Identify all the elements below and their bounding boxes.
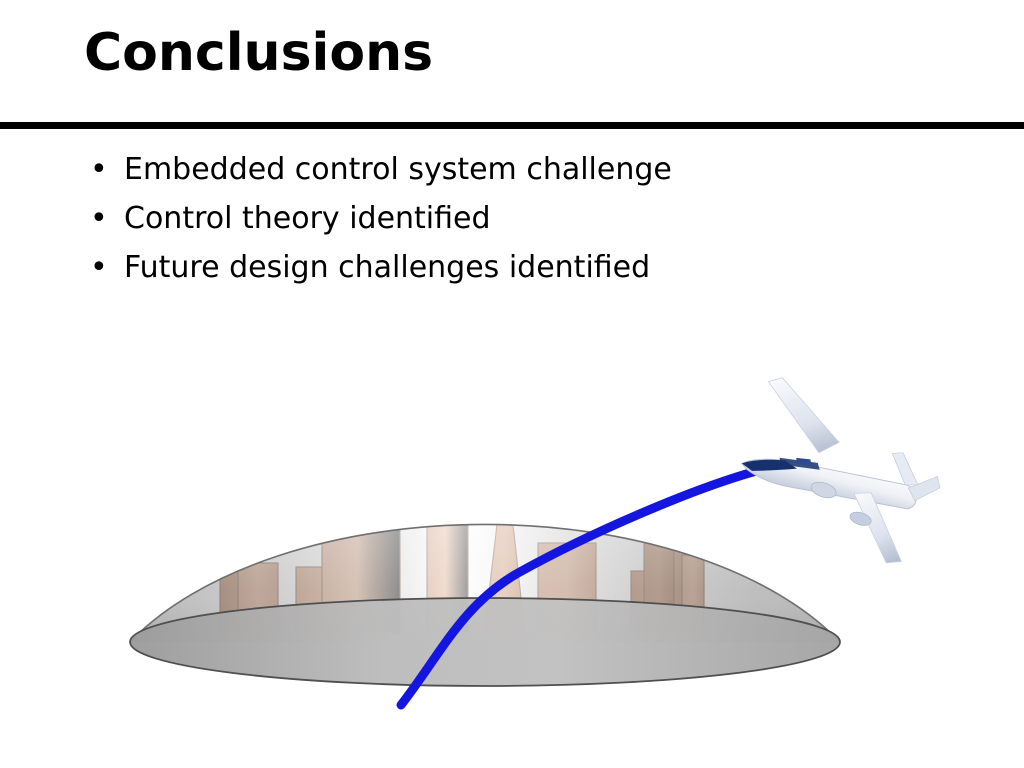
bullet-marker-icon: • bbox=[84, 250, 124, 286]
airplane-wing-far bbox=[752, 374, 852, 458]
bullet-list: • Embedded control system challenge • Co… bbox=[84, 152, 884, 299]
airplane bbox=[726, 374, 957, 572]
list-item: • Control theory identified bbox=[84, 201, 884, 237]
list-item-label: Control theory identified bbox=[124, 201, 491, 237]
list-item-label: Future design challenges identified bbox=[124, 250, 650, 286]
airplane-fuselage bbox=[739, 435, 920, 527]
bullet-marker-icon: • bbox=[84, 201, 124, 237]
city-under-dome-illustration bbox=[110, 355, 970, 725]
list-item: • Future design challenges identified bbox=[84, 250, 884, 286]
page-title: Conclusions bbox=[84, 26, 433, 81]
bullet-marker-icon: • bbox=[84, 152, 124, 188]
dome-base-ellipse bbox=[130, 598, 840, 686]
slide-canvas: Conclusions • Embedded control system ch… bbox=[0, 0, 1024, 768]
building-pyramid-needle bbox=[502, 450, 507, 475]
list-item-label: Embedded control system challenge bbox=[124, 152, 672, 188]
title-divider-rule bbox=[0, 122, 1024, 129]
list-item: • Embedded control system challenge bbox=[84, 152, 884, 188]
